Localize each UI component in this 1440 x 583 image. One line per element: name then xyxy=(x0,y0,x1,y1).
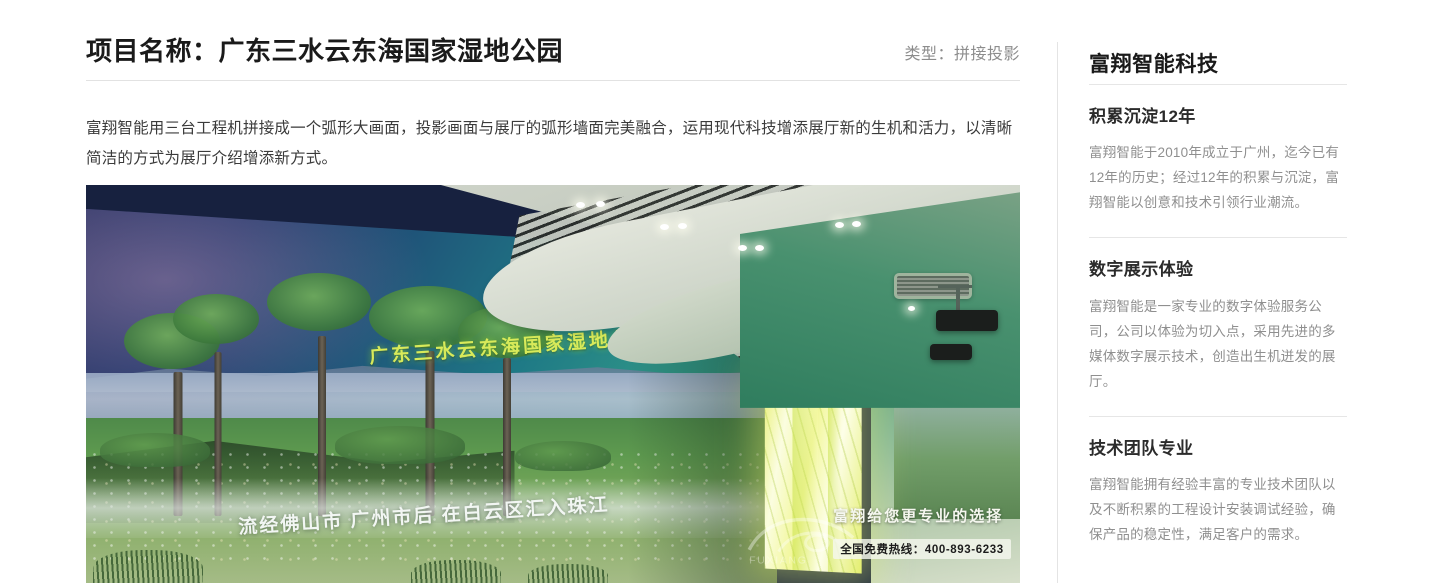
ceiling-projector xyxy=(930,344,972,360)
foreground-grass-tuft xyxy=(93,550,203,583)
sidebar-block-1: 数字展示体验 富翔智能是一家专业的数字体验服务公司，公司以体验为切入点，采用先进… xyxy=(1089,237,1357,393)
sidebar-blocks: 积累沉淀12年 富翔智能于2010年成立于广州，迄今已有12年的历史；经过12年… xyxy=(1089,84,1357,569)
watermark-slogan: 富翔给您更专业的选择 xyxy=(833,505,1003,526)
main-content-column: 项目名称：广东三水云东海国家湿地公园 类型：拼接投影 富翔智能用三台工程机拼接成… xyxy=(0,0,1057,583)
ceiling-spotlight xyxy=(755,245,764,251)
sidebar-block-heading: 积累沉淀12年 xyxy=(1089,107,1357,127)
photo-inner: 广东三水云东海国家湿地公园 流经佛山市 广州市后 在白云区汇入珠江 xyxy=(86,185,1020,583)
project-type-label: 类型：拼接投影 xyxy=(904,40,1020,67)
projected-bush xyxy=(100,433,210,467)
ceiling-spotlight xyxy=(596,201,605,207)
main-sidebar-divider xyxy=(1057,42,1058,583)
projected-bush xyxy=(335,426,465,464)
projector-mount-arm xyxy=(956,288,960,310)
projector-mount-bar xyxy=(938,285,972,288)
ceiling-projector xyxy=(936,310,998,331)
page-root: 项目名称：广东三水云东海国家湿地公园 类型：拼接投影 富翔智能用三台工程机拼接成… xyxy=(0,0,1440,583)
tree-canopy xyxy=(173,294,259,344)
ceiling-spotlight xyxy=(835,222,844,228)
header-divider xyxy=(86,80,1020,81)
sidebar-block-heading: 数字展示体验 xyxy=(1089,260,1357,280)
sidebar-block-body: 富翔智能拥有经验丰富的专业技术团队以及不断积累的工程设计安装调试经验，确保产品的… xyxy=(1089,472,1341,547)
foreground-grass-tuft xyxy=(411,560,501,583)
projected-bush xyxy=(515,441,611,471)
sidebar-block-0: 积累沉淀12年 富翔智能于2010年成立于广州，迄今已有12年的历史；经过12年… xyxy=(1089,84,1357,215)
ceiling-spotlight xyxy=(576,202,585,208)
sidebar-divider xyxy=(1089,237,1347,238)
svg-text:FUXIANG: FUXIANG xyxy=(750,556,808,567)
watermark-hotline: 全国免费热线：400-893-6233 xyxy=(833,539,1011,559)
project-photo: 广东三水云东海国家湿地公园 流经佛山市 广州市后 在白云区汇入珠江 xyxy=(86,185,1020,583)
sidebar-block-body: 富翔智能于2010年成立于广州，迄今已有12年的历史；经过12年的积累与沉淀，富… xyxy=(1089,140,1341,215)
page-title: 项目名称：广东三水云东海国家湿地公园 xyxy=(86,36,563,67)
foreground-grass-tuft xyxy=(528,564,608,583)
sidebar-divider xyxy=(1089,416,1347,417)
sidebar-block-body: 富翔智能是一家专业的数字体验服务公司，公司以体验为切入点，采用先进的多媒体数字展… xyxy=(1089,294,1341,394)
ceiling-spotlight xyxy=(852,221,861,227)
sidebar: 富翔智能科技 积累沉淀12年 富翔智能于2010年成立于广州，迄今已有12年的历… xyxy=(1089,0,1357,583)
sidebar-block-2: 技术团队专业 富翔智能拥有经验丰富的专业技术团队以及不断积累的工程设计安装调试经… xyxy=(1089,416,1357,547)
project-description: 富翔智能用三台工程机拼接成一个弧形大画面，投影画面与展厅的弧形墙面完美融合，运用… xyxy=(86,114,1020,174)
project-header: 项目名称：广东三水云东海国家湿地公园 类型：拼接投影 xyxy=(86,36,1020,67)
sidebar-brand-title: 富翔智能科技 xyxy=(1089,48,1219,78)
sidebar-block-heading: 技术团队专业 xyxy=(1089,439,1357,459)
sidebar-divider xyxy=(1089,84,1347,85)
